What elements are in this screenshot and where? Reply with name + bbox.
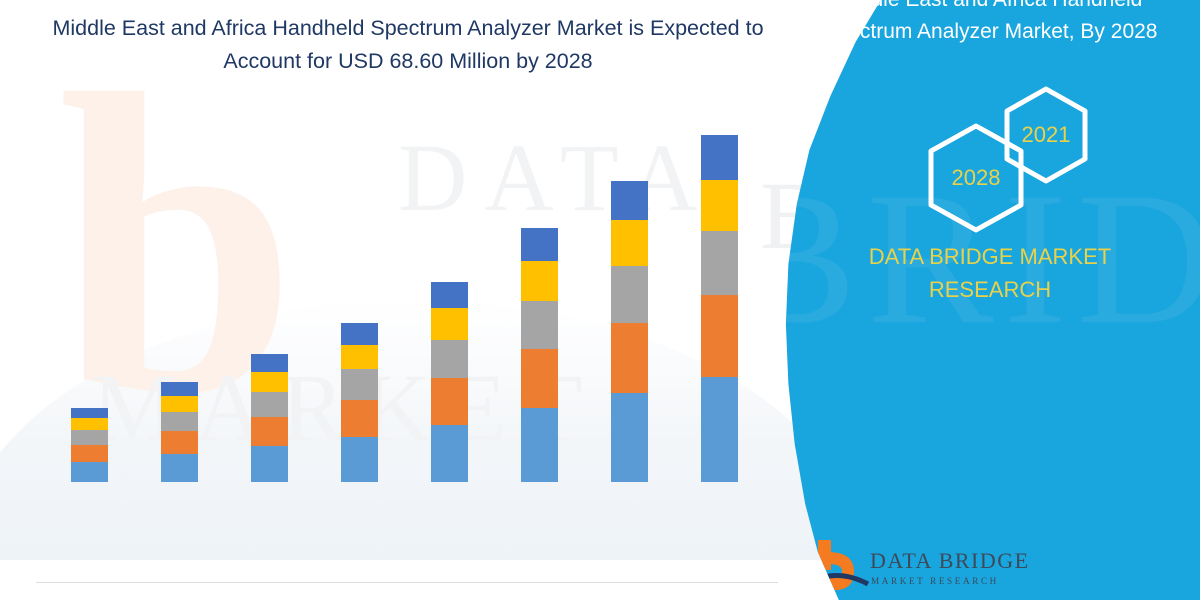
bar-segment-egypt-2027[interactable] xyxy=(611,266,648,322)
bar-segment-egypt-2024[interactable] xyxy=(341,369,378,400)
logo-title: DATA BRIDGE xyxy=(870,548,1030,574)
bar-segment-rest-of-mea-2021[interactable] xyxy=(71,408,108,419)
bar-segment-saudi-arabia-2027[interactable] xyxy=(611,393,648,482)
brand-line-1: DATA BRIDGE MARKET xyxy=(802,240,1178,273)
bar-segment-u-a-e-2021[interactable] xyxy=(71,445,108,462)
bar-segment-saudi-arabia-2024[interactable] xyxy=(341,437,378,482)
bar-2027[interactable] xyxy=(611,181,648,482)
bar-segment-rest-of-mea-2026[interactable] xyxy=(521,228,558,261)
bar-segment-rest-of-mea-2023[interactable] xyxy=(251,354,288,372)
brand-line-2: RESEARCH xyxy=(802,273,1178,306)
bar-segment-israel-2022[interactable] xyxy=(161,396,198,412)
bar-segment-egypt-2022[interactable] xyxy=(161,412,198,431)
stacked-bar-chart: 20212022202320242025202620272028 Saudi A… xyxy=(0,100,800,490)
bar-segment-u-a-e-2025[interactable] xyxy=(431,378,468,425)
hexagon-2028-label: 2028 xyxy=(952,165,1001,191)
hexagon-2021-label: 2021 xyxy=(1022,122,1071,148)
bar-segment-u-a-e-2023[interactable] xyxy=(251,417,288,447)
infographic-root: b DATA MARKET BR Middle East and Africa … xyxy=(0,0,1200,600)
bar-segment-israel-2027[interactable] xyxy=(611,220,648,266)
bar-2028[interactable] xyxy=(701,135,738,482)
brand-name: DATA BRIDGE MARKET RESEARCH xyxy=(802,240,1178,306)
logo-bridge-icon xyxy=(808,536,870,594)
bar-segment-saudi-arabia-2022[interactable] xyxy=(161,454,198,482)
bar-segment-u-a-e-2024[interactable] xyxy=(341,400,378,437)
bar-segment-saudi-arabia-2028[interactable] xyxy=(701,377,738,482)
logo-tagline: MARKET RESEARCH xyxy=(871,576,999,586)
bar-2021[interactable] xyxy=(71,408,108,482)
bar-segment-israel-2028[interactable] xyxy=(701,180,738,231)
bar-segment-rest-of-mea-2027[interactable] xyxy=(611,181,648,220)
bar-2022[interactable] xyxy=(161,382,198,482)
hexagon-group: 2021 2028 xyxy=(892,85,1142,225)
bar-segment-egypt-2025[interactable] xyxy=(431,340,468,378)
bar-segment-egypt-2021[interactable] xyxy=(71,430,108,444)
brand-panel: BRIDGE Middle East and Africa Handheld S… xyxy=(780,0,1200,600)
bar-segment-rest-of-mea-2024[interactable] xyxy=(341,323,378,345)
bar-segment-u-a-e-2028[interactable] xyxy=(701,295,738,377)
bar-segment-u-a-e-2026[interactable] xyxy=(521,349,558,408)
bar-segment-saudi-arabia-2026[interactable] xyxy=(521,408,558,482)
bar-segment-egypt-2026[interactable] xyxy=(521,301,558,350)
bar-2024[interactable] xyxy=(341,323,378,482)
hexagon-2028: 2028 xyxy=(924,122,1028,234)
bar-segment-rest-of-mea-2022[interactable] xyxy=(161,382,198,396)
panel-title: Middle East and Africa Handheld Spectrum… xyxy=(802,0,1178,48)
bar-segment-u-a-e-2027[interactable] xyxy=(611,323,648,394)
bar-segment-egypt-2023[interactable] xyxy=(251,392,288,417)
bar-segment-u-a-e-2022[interactable] xyxy=(161,431,198,454)
chart-plot-area xyxy=(40,100,770,482)
bar-segment-saudi-arabia-2021[interactable] xyxy=(71,462,108,482)
bar-segment-saudi-arabia-2023[interactable] xyxy=(251,446,288,482)
bar-segment-egypt-2028[interactable] xyxy=(701,231,738,295)
data-bridge-logo: DATA BRIDGE MARKET RESEARCH xyxy=(808,536,1058,598)
bar-2025[interactable] xyxy=(431,282,468,483)
page-title: Middle East and Africa Handheld Spectrum… xyxy=(18,12,798,78)
bar-segment-israel-2025[interactable] xyxy=(431,308,468,340)
bar-segment-rest-of-mea-2028[interactable] xyxy=(701,135,738,180)
bar-segment-rest-of-mea-2025[interactable] xyxy=(431,282,468,309)
bar-segment-israel-2023[interactable] xyxy=(251,372,288,392)
bar-segment-israel-2024[interactable] xyxy=(341,345,378,370)
x-axis-line xyxy=(36,582,778,583)
bar-2026[interactable] xyxy=(521,228,558,482)
bar-segment-saudi-arabia-2025[interactable] xyxy=(431,425,468,482)
bar-segment-israel-2021[interactable] xyxy=(71,418,108,430)
bar-segment-israel-2026[interactable] xyxy=(521,261,558,300)
bar-2023[interactable] xyxy=(251,354,288,482)
